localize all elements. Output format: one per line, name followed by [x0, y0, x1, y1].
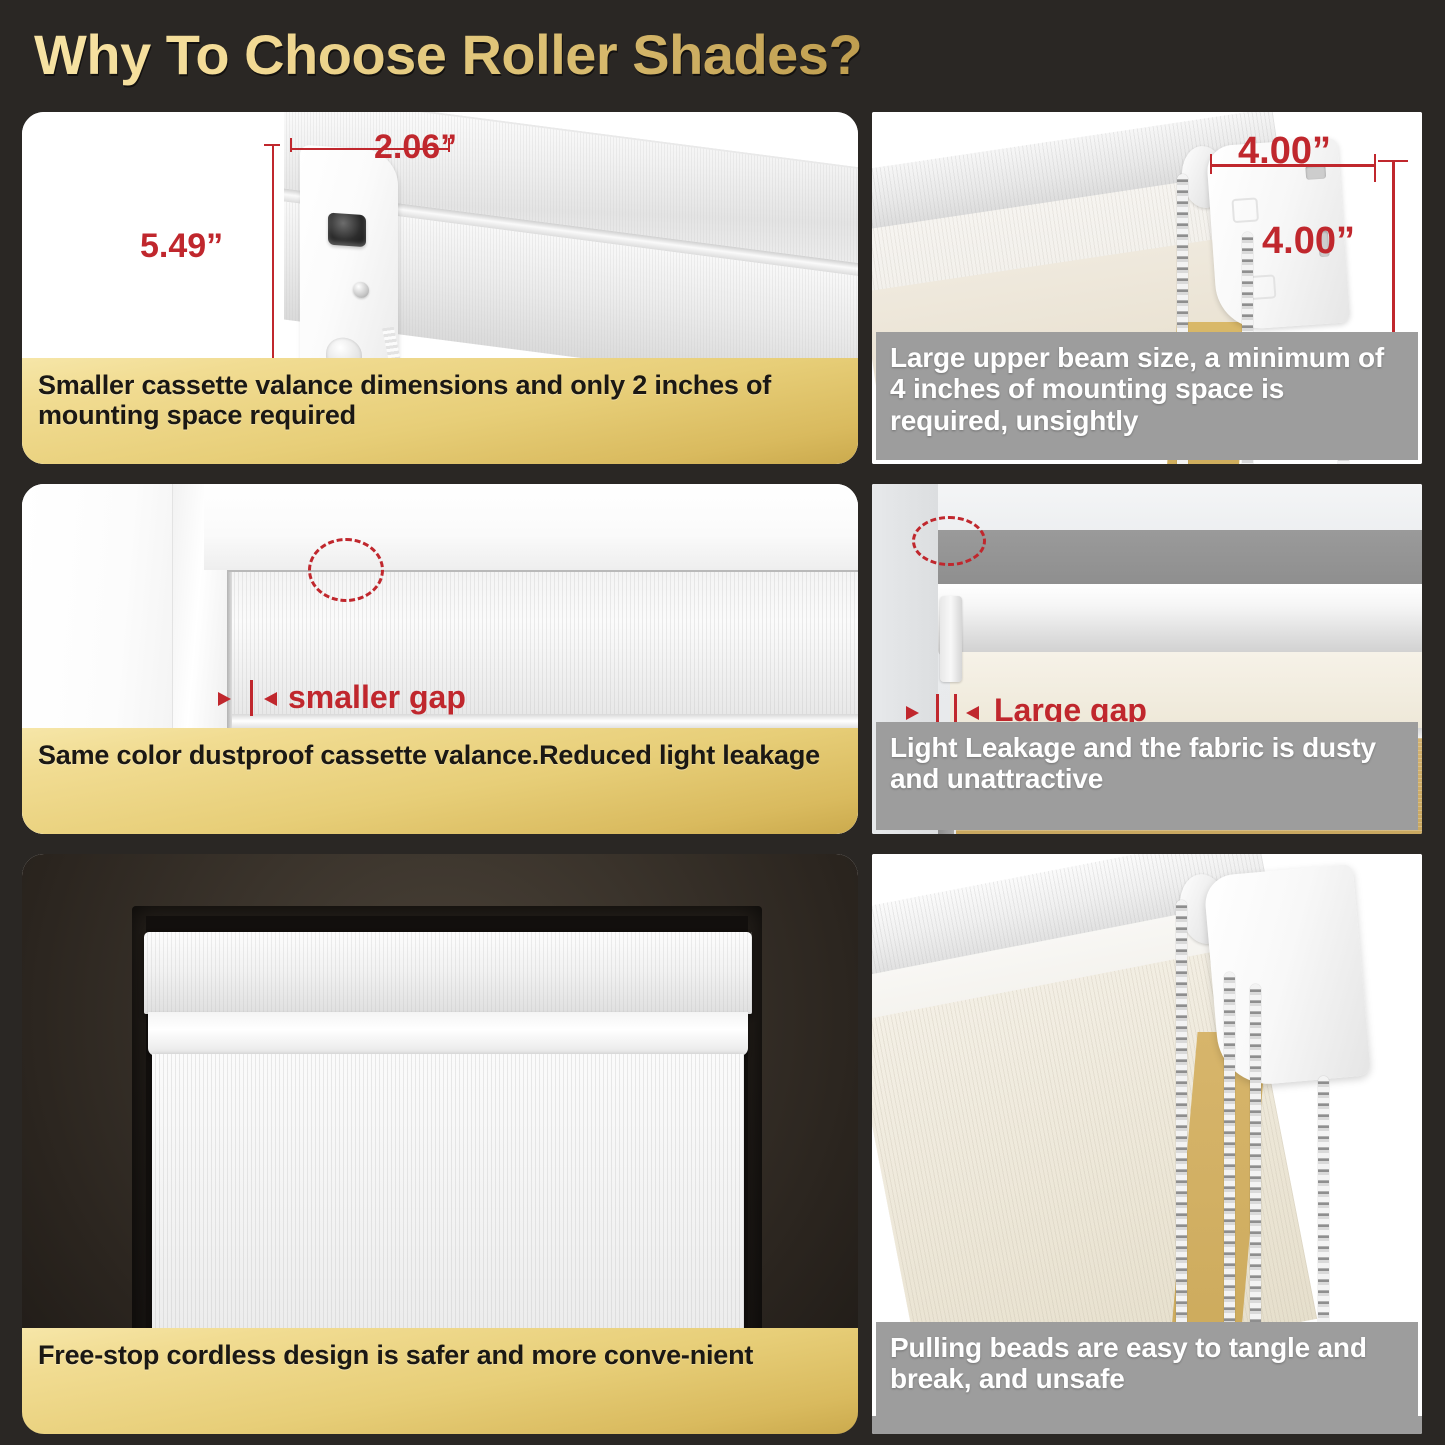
bead-chain-mid-a: [1224, 972, 1235, 1334]
page-title: Why To Choose Roller Shades?: [34, 22, 862, 87]
cassette-valance-lower: [148, 1012, 748, 1056]
infographic-root: Why To Choose Roller Shades? 2.06”: [0, 0, 1445, 1445]
panel-caption: Light Leakage and the fabric is dusty an…: [876, 722, 1418, 830]
valance-separator: [227, 714, 858, 728]
roller-tube: [938, 584, 1422, 656]
panel-large-beam: 4.00” 4.00” Large upper beam size, a min…: [872, 112, 1422, 464]
gap-bar: [250, 680, 253, 716]
window-header-trim: [204, 484, 858, 570]
panel-cordless-design: Free-stop cordless design is safer and m…: [22, 854, 858, 1434]
dimension-label-height: 4.00”: [1262, 220, 1355, 263]
highlight-circle-icon: [308, 538, 384, 602]
panel-smaller-cassette: 2.06” 5.49” Smaller cassette valance dim…: [22, 112, 858, 464]
panel-pulling-beads: Pulling beads are easy to tangle and bre…: [872, 854, 1422, 1434]
endcap-hole: [328, 213, 366, 248]
gap-arrow-left-icon: [218, 692, 231, 706]
gap-label: smaller gap: [288, 679, 466, 716]
highlight-circle-icon: [912, 516, 986, 566]
cassette-valance: [144, 932, 752, 1014]
endcap-screw: [353, 281, 369, 298]
dimension-label-width: 2.06”: [374, 128, 457, 167]
dim-width-tick-left: [1210, 154, 1212, 174]
dim-width-tick-right: [1374, 154, 1376, 182]
gap-arrow-right-icon: [966, 706, 979, 720]
dimension-label-height: 5.49”: [140, 227, 223, 266]
bead-chain-right: [1318, 1076, 1329, 1334]
dim-height-line: [1392, 160, 1395, 350]
dim-height-tick-top: [264, 144, 280, 146]
panel-caption: Same color dustproof cassette valance.Re…: [22, 728, 858, 834]
panel-smaller-gap: smaller gap Same color dustproof cassett…: [22, 484, 858, 834]
panel-grid: 2.06” 5.49” Smaller cassette valance dim…: [0, 112, 1445, 1445]
dim-height-tick-top: [1378, 160, 1408, 162]
panel-caption: Smaller cassette valance dimensions and …: [22, 358, 858, 464]
mounting-clip: [940, 596, 962, 682]
panel-large-gap: Large gap Light Leakage and the fabric i…: [872, 484, 1422, 834]
panel-caption: Large upper beam size, a minimum of 4 in…: [876, 332, 1418, 460]
beam-shadow: [938, 530, 1422, 588]
gap-arrow-right-icon: [264, 692, 277, 706]
bead-chain-mid-b: [1250, 984, 1261, 1334]
panel-caption: Free-stop cordless design is safer and m…: [22, 1328, 858, 1434]
dimension-label-width: 4.00”: [1238, 130, 1331, 173]
bead-chain-left: [1176, 900, 1187, 1334]
dim-width-tick-left: [290, 138, 292, 152]
panel-caption: Pulling beads are easy to tangle and bre…: [876, 1322, 1418, 1430]
gap-arrow-left-icon: [906, 706, 919, 720]
